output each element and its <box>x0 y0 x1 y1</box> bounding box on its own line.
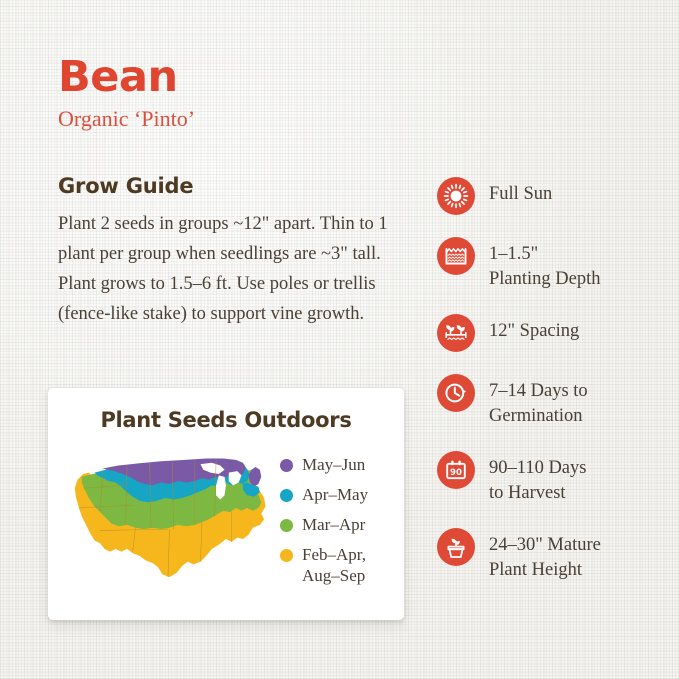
spec-item-days-to-harvest: 90 90–110 Days to Harvest <box>437 451 657 506</box>
spec-item-label: 24–30" Mature Plant Height <box>489 528 601 583</box>
spec-item-label: Full Sun <box>489 177 552 207</box>
legend-item: Apr–May <box>280 484 368 505</box>
legend-item-label: May–Jun <box>302 454 365 475</box>
legend-item: May–Jun <box>280 454 368 475</box>
sun-icon <box>437 177 475 215</box>
clock-icon <box>437 374 475 412</box>
us-planting-zone-map <box>62 440 274 590</box>
legend-item: Feb–Apr, Aug–Sep <box>280 544 368 586</box>
spec-item-planting-depth: 1–1.5" Planting Depth <box>437 237 657 292</box>
map-card-body: May–Jun Apr–May Mar–Apr Feb–Apr, Aug–Sep <box>48 432 404 595</box>
packet-header: Bean Organic ‘Pinto’ <box>58 54 195 133</box>
legend-color-dot <box>280 519 293 532</box>
grow-guide-heading: Grow Guide <box>58 174 406 198</box>
spec-item-spacing: 12" Spacing <box>437 314 657 352</box>
planting-depth-icon <box>437 237 475 275</box>
legend-item: Mar–Apr <box>280 514 368 535</box>
spec-item-label: 1–1.5" Planting Depth <box>489 237 601 292</box>
seed-packet-page: Bean Organic ‘Pinto’ Grow Guide Plant 2 … <box>0 0 679 679</box>
plant-variety-subtitle: Organic ‘Pinto’ <box>58 105 195 133</box>
map-card-title: Plant Seeds Outdoors <box>48 388 404 432</box>
spec-item-label: 90–110 Days to Harvest <box>489 451 586 506</box>
calendar-badge-value: 90 <box>450 468 462 478</box>
legend-color-dot <box>280 459 293 472</box>
page-title: Bean <box>58 54 195 100</box>
legend-item-label: Mar–Apr <box>302 514 365 535</box>
legend-item-label: Apr–May <box>302 484 368 505</box>
legend-item-label: Feb–Apr, Aug–Sep <box>302 544 366 586</box>
legend-color-dot <box>280 549 293 562</box>
planting-map-card: Plant Seeds Outdoors <box>48 388 404 620</box>
map-legend: May–Jun Apr–May Mar–Apr Feb–Apr, Aug–Sep <box>280 454 368 595</box>
spec-item-plant-height: 24–30" Mature Plant Height <box>437 528 657 583</box>
potted-plant-icon <box>437 528 475 566</box>
grow-guide-section: Grow Guide Plant 2 seeds in groups ~12" … <box>58 174 406 329</box>
grow-guide-body: Plant 2 seeds in groups ~12" apart. Thin… <box>58 209 406 329</box>
spacing-icon <box>437 314 475 352</box>
growing-specs-list: Full Sun 1–1.5" Planting Depth <box>437 177 657 605</box>
map-zone-layers <box>75 458 266 577</box>
spec-item-germination: 7–14 Days to Germination <box>437 374 657 429</box>
calendar-icon: 90 <box>437 451 475 489</box>
legend-color-dot <box>280 489 293 502</box>
spec-item-label: 7–14 Days to Germination <box>489 374 588 429</box>
spec-item-full-sun: Full Sun <box>437 177 657 215</box>
spec-item-label: 12" Spacing <box>489 314 579 344</box>
